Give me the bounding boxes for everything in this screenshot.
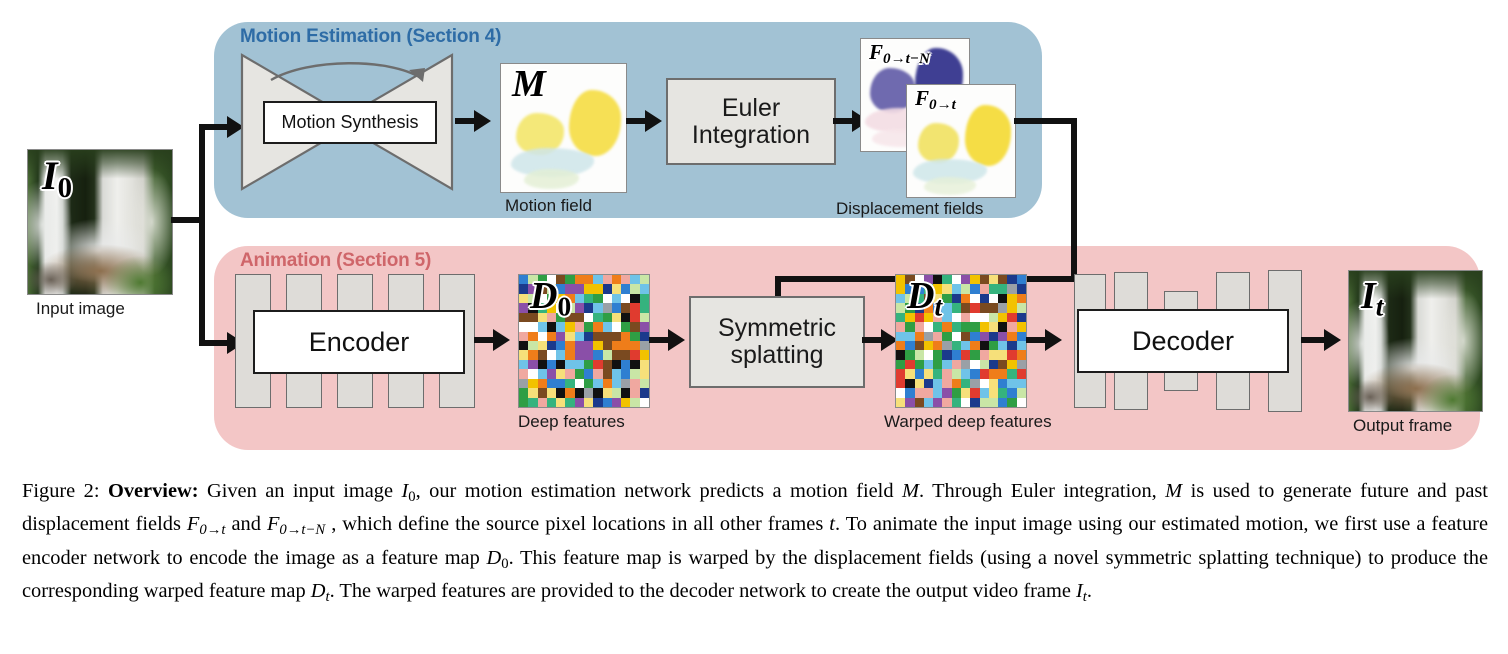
feature-cell — [998, 388, 1007, 397]
feature-cell — [1007, 284, 1016, 293]
feature-cell — [565, 350, 574, 359]
feature-cell — [584, 284, 593, 293]
feature-cell — [915, 398, 924, 407]
input-image-math-label: I0 — [42, 152, 72, 205]
feature-cell — [1007, 322, 1016, 331]
decoder-box[interactable]: Decoder — [1077, 309, 1289, 373]
motion-field-math-label: M — [512, 62, 546, 106]
feature-cell — [933, 350, 942, 359]
feature-cell — [915, 369, 924, 378]
feature-cell — [593, 294, 602, 303]
feature-cell — [952, 322, 961, 331]
feature-cell — [998, 341, 1007, 350]
feature-cell — [980, 284, 989, 293]
feature-cell — [593, 275, 602, 284]
feature-cell — [942, 398, 951, 407]
feature-cell — [952, 313, 961, 322]
feature-cell — [584, 388, 593, 397]
feature-cell — [556, 350, 565, 359]
warped-deep-features-caption: Warped deep features — [884, 412, 1052, 432]
caption-figure-number: Figure 2: — [22, 480, 100, 502]
feature-cell — [612, 350, 621, 359]
feature-cell — [915, 388, 924, 397]
feature-cell — [630, 350, 639, 359]
feature-cell — [915, 322, 924, 331]
feature-cell — [593, 313, 602, 322]
feature-cell — [980, 398, 989, 407]
feature-cell — [998, 294, 1007, 303]
feature-cell — [933, 369, 942, 378]
feature-cell — [630, 313, 639, 322]
feature-cell — [640, 275, 649, 284]
feature-cell — [593, 398, 602, 407]
feature-cell — [575, 369, 584, 378]
feature-cell — [952, 294, 961, 303]
feature-cell — [621, 350, 630, 359]
feature-cell — [556, 398, 565, 407]
feature-cell — [905, 341, 914, 350]
feature-cell — [989, 294, 998, 303]
feature-cell — [575, 332, 584, 341]
feature-cell — [998, 379, 1007, 388]
caption-body-1: Given an input image — [199, 480, 402, 502]
feature-cell — [933, 322, 942, 331]
caption-body-10: . — [1087, 580, 1092, 602]
euler-integration-box[interactable]: Euler Integration — [666, 78, 836, 165]
feature-cell — [612, 303, 621, 312]
feature-cell — [980, 369, 989, 378]
feature-cell — [621, 275, 630, 284]
caption-math-i0-sub: 0 — [408, 489, 415, 505]
feature-cell — [565, 388, 574, 397]
feature-cell — [896, 294, 905, 303]
feature-cell — [621, 369, 630, 378]
feature-cell — [640, 284, 649, 293]
feature-cell — [575, 294, 584, 303]
feature-cell — [1017, 350, 1026, 359]
feature-cell — [1017, 275, 1026, 284]
feature-cell — [556, 369, 565, 378]
caption-body-9: . The warped features are provided to th… — [330, 580, 1076, 602]
displacement-back-math-label: F0→t−N — [869, 40, 930, 68]
feature-cell — [519, 360, 528, 369]
feature-cell — [538, 388, 547, 397]
arrow-to-deep-features — [493, 329, 510, 351]
feature-cell — [998, 398, 1007, 407]
feature-cell — [556, 322, 565, 331]
feature-cell — [980, 303, 989, 312]
encoder-box[interactable]: Encoder — [253, 310, 465, 374]
feature-cell — [612, 388, 621, 397]
feature-cell — [989, 322, 998, 331]
motion-field-caption: Motion field — [505, 196, 592, 216]
input-image-symbol: I — [42, 153, 58, 198]
feature-cell — [942, 350, 951, 359]
feature-cell — [970, 322, 979, 331]
feature-cell — [896, 350, 905, 359]
feature-cell — [980, 388, 989, 397]
feature-cell — [519, 322, 528, 331]
feature-cell — [933, 332, 942, 341]
feature-cell — [528, 341, 537, 350]
feature-cell — [528, 398, 537, 407]
feature-cell — [538, 341, 547, 350]
decoder-label: Decoder — [1132, 326, 1234, 357]
feature-cell — [640, 379, 649, 388]
feature-cell — [952, 360, 961, 369]
feature-cell — [640, 313, 649, 322]
feature-cell — [528, 369, 537, 378]
feature-cell — [630, 303, 639, 312]
feature-cell — [933, 341, 942, 350]
feature-cell — [575, 303, 584, 312]
feature-cell — [584, 360, 593, 369]
feature-cell — [915, 341, 924, 350]
feature-cell — [547, 322, 556, 331]
feature-cell — [961, 398, 970, 407]
feature-cell — [556, 379, 565, 388]
motion-synthesis-box[interactable]: Motion Synthesis — [263, 101, 437, 144]
displacement-front-math-label: F0→t — [915, 86, 956, 114]
feature-cell — [1017, 360, 1026, 369]
wire-displacement-down — [1071, 118, 1077, 282]
feature-cell — [575, 379, 584, 388]
splatting-line-1: Symmetric — [718, 315, 836, 342]
feature-cell — [952, 341, 961, 350]
feature-cell — [998, 303, 1007, 312]
feature-cell — [952, 332, 961, 341]
feature-cell — [640, 332, 649, 341]
feature-cell — [621, 332, 630, 341]
output-frame-caption: Output frame — [1353, 416, 1452, 436]
feature-cell — [952, 379, 961, 388]
feature-cell — [593, 369, 602, 378]
output-frame-math-label: It — [1361, 274, 1383, 323]
feature-cell — [603, 332, 612, 341]
feature-cell — [905, 369, 914, 378]
feature-cell — [942, 313, 951, 322]
feature-cell — [933, 360, 942, 369]
feature-cell — [998, 360, 1007, 369]
feature-cell — [630, 379, 639, 388]
encoder-label: Encoder — [309, 327, 410, 358]
feature-cell — [640, 350, 649, 359]
feature-cell — [640, 398, 649, 407]
feature-cell — [575, 284, 584, 293]
feature-cell — [519, 350, 528, 359]
feature-cell — [538, 369, 547, 378]
feature-cell — [1007, 303, 1016, 312]
feature-cell — [961, 332, 970, 341]
feature-cell — [942, 303, 951, 312]
feature-cell — [1017, 284, 1026, 293]
feature-cell — [538, 322, 547, 331]
caption-body-5: and — [225, 513, 266, 535]
feature-cell — [989, 379, 998, 388]
feature-cell — [924, 322, 933, 331]
feature-cell — [942, 388, 951, 397]
feature-cell — [924, 350, 933, 359]
input-image-subscript: 0 — [58, 172, 72, 204]
feature-cell — [612, 379, 621, 388]
feature-cell — [989, 332, 998, 341]
feature-cell — [998, 313, 1007, 322]
feature-cell — [952, 350, 961, 359]
feature-cell — [630, 294, 639, 303]
feature-cell — [905, 379, 914, 388]
feature-cell — [640, 303, 649, 312]
feature-cell — [584, 369, 593, 378]
feature-cell — [989, 350, 998, 359]
feature-cell — [640, 369, 649, 378]
feature-cell — [584, 303, 593, 312]
caption-math-It: I — [1076, 580, 1083, 602]
feature-cell — [612, 369, 621, 378]
feature-cell — [933, 398, 942, 407]
feature-cell — [593, 360, 602, 369]
feature-cell — [1007, 313, 1016, 322]
feature-cell — [575, 398, 584, 407]
feature-cell — [621, 388, 630, 397]
feature-cell — [621, 398, 630, 407]
feature-cell — [621, 341, 630, 350]
arrow-to-decoder — [1045, 329, 1062, 351]
displacement-fields-caption: Displacement fields — [836, 199, 983, 219]
feature-cell — [575, 341, 584, 350]
feature-cell — [961, 294, 970, 303]
feature-cell — [584, 322, 593, 331]
figure-caption: Figure 2: Overview: Given an input image… — [22, 478, 1488, 611]
motion-field-symbol: M — [512, 63, 546, 105]
feature-cell — [538, 332, 547, 341]
motion-estimation-title: Motion Estimation (Section 4) — [240, 26, 501, 48]
feature-cell — [970, 303, 979, 312]
feature-cell — [896, 379, 905, 388]
warped-features-subscript: t — [934, 292, 942, 322]
feature-cell — [538, 379, 547, 388]
feature-cell — [905, 398, 914, 407]
output-frame-symbol: I — [1361, 275, 1376, 317]
arrow-to-output-frame — [1324, 329, 1341, 351]
feature-cell — [952, 275, 961, 284]
feature-cell — [603, 322, 612, 331]
feature-cell — [942, 322, 951, 331]
feature-cell — [961, 303, 970, 312]
feature-cell — [1017, 303, 1026, 312]
euler-line-2: Integration — [692, 122, 810, 149]
feature-cell — [547, 360, 556, 369]
feature-cell — [603, 369, 612, 378]
feature-cell — [896, 398, 905, 407]
feature-cell — [584, 313, 593, 322]
caption-math-M: M — [902, 480, 919, 502]
caption-math-F1: F — [187, 513, 199, 535]
feature-cell — [970, 360, 979, 369]
feature-cell — [630, 275, 639, 284]
feature-cell — [924, 388, 933, 397]
feature-cell — [603, 303, 612, 312]
feature-cell — [519, 379, 528, 388]
feature-cell — [603, 388, 612, 397]
feature-cell — [970, 379, 979, 388]
feature-cell — [603, 360, 612, 369]
feature-cell — [970, 398, 979, 407]
feature-cell — [538, 398, 547, 407]
displacement-back-subscript: 0→t−N — [883, 51, 930, 67]
input-trunk-vertical — [199, 124, 205, 346]
feature-cell — [1017, 341, 1026, 350]
feature-cell — [630, 322, 639, 331]
feature-cell — [630, 284, 639, 293]
feature-cell — [612, 313, 621, 322]
feature-cell — [961, 313, 970, 322]
caption-body-2: , our motion estimation network predicts… — [416, 480, 902, 502]
feature-cell — [924, 398, 933, 407]
displacement-front-symbol: F — [915, 86, 929, 110]
feature-cell — [565, 341, 574, 350]
feature-cell — [980, 275, 989, 284]
feature-cell — [547, 350, 556, 359]
caption-body-6: , which define the source pixel location… — [325, 513, 829, 535]
deep-features-math-label: D0 — [530, 274, 571, 323]
feature-cell — [630, 332, 639, 341]
feature-cell — [565, 360, 574, 369]
feature-cell — [1007, 379, 1016, 388]
feature-cell — [612, 341, 621, 350]
feature-cell — [612, 332, 621, 341]
feature-cell — [603, 294, 612, 303]
feature-cell — [519, 294, 528, 303]
motion-synthesis-label: Motion Synthesis — [281, 112, 418, 133]
branch-to-motion-estimation — [199, 124, 229, 130]
feature-cell — [989, 284, 998, 293]
feature-cell — [952, 398, 961, 407]
caption-math-D0-sub: 0 — [501, 556, 508, 572]
feature-cell — [630, 341, 639, 350]
feature-cell — [989, 275, 998, 284]
feature-cell — [593, 303, 602, 312]
caption-math-M2: M — [1165, 480, 1182, 502]
euler-line-1: Euler — [722, 95, 780, 122]
feature-cell — [593, 332, 602, 341]
feature-cell — [896, 388, 905, 397]
feature-cell — [942, 379, 951, 388]
feature-cell — [952, 369, 961, 378]
feature-cell — [584, 341, 593, 350]
input-image-caption: Input image — [36, 299, 125, 319]
feature-cell — [1007, 398, 1016, 407]
feature-cell — [970, 294, 979, 303]
feature-cell — [942, 341, 951, 350]
feature-cell — [640, 294, 649, 303]
feature-cell — [547, 341, 556, 350]
feature-cell — [961, 275, 970, 284]
feature-cell — [998, 275, 1007, 284]
feature-cell — [603, 398, 612, 407]
warped-deep-features-math-label: Dt — [907, 274, 942, 323]
feature-cell — [612, 275, 621, 284]
feature-cell — [519, 284, 528, 293]
symmetric-splatting-box[interactable]: Symmetric splatting — [689, 296, 865, 388]
feature-cell — [528, 332, 537, 341]
feature-cell — [1007, 294, 1016, 303]
feature-cell — [961, 388, 970, 397]
feature-cell — [519, 275, 528, 284]
warped-features-symbol: D — [907, 275, 934, 317]
feature-cell — [584, 350, 593, 359]
feature-cell — [905, 350, 914, 359]
feature-cell — [547, 379, 556, 388]
feature-cell — [603, 341, 612, 350]
feature-cell — [1017, 379, 1026, 388]
feature-cell — [998, 332, 1007, 341]
feature-cell — [556, 332, 565, 341]
feature-cell — [924, 332, 933, 341]
feature-cell — [630, 388, 639, 397]
feature-cell — [915, 360, 924, 369]
feature-cell — [1017, 369, 1026, 378]
arrow-to-euler-integration — [645, 110, 662, 132]
arrow-to-motion-field — [474, 110, 491, 132]
feature-cell — [575, 275, 584, 284]
feature-cell — [519, 303, 528, 312]
feature-cell — [621, 294, 630, 303]
feature-cell — [612, 294, 621, 303]
arrow-to-symmetric-splatting — [668, 329, 685, 351]
feature-cell — [1007, 341, 1016, 350]
feature-cell — [528, 360, 537, 369]
feature-cell — [630, 369, 639, 378]
feature-cell — [565, 332, 574, 341]
feature-cell — [961, 350, 970, 359]
feature-cell — [942, 284, 951, 293]
feature-cell — [896, 313, 905, 322]
feature-cell — [519, 369, 528, 378]
feature-cell — [970, 332, 979, 341]
feature-cell — [896, 341, 905, 350]
feature-cell — [942, 332, 951, 341]
feature-cell — [989, 360, 998, 369]
feature-cell — [980, 294, 989, 303]
feature-cell — [915, 332, 924, 341]
feature-cell — [565, 398, 574, 407]
feature-cell — [915, 350, 924, 359]
feature-cell — [961, 369, 970, 378]
feature-cell — [980, 341, 989, 350]
feature-cell — [896, 369, 905, 378]
feature-cell — [1007, 350, 1016, 359]
feature-cell — [905, 332, 914, 341]
deep-features-symbol: D — [530, 275, 557, 317]
feature-cell — [565, 322, 574, 331]
feature-cell — [952, 388, 961, 397]
caption-math-D0: D — [487, 547, 502, 569]
feature-cell — [1017, 332, 1026, 341]
feature-cell — [952, 303, 961, 312]
feature-cell — [612, 360, 621, 369]
feature-cell — [575, 322, 584, 331]
feature-cell — [896, 322, 905, 331]
feature-cell — [584, 379, 593, 388]
feature-cell — [970, 369, 979, 378]
feature-cell — [1017, 398, 1026, 407]
feature-cell — [519, 398, 528, 407]
feature-cell — [970, 275, 979, 284]
feature-cell — [1017, 388, 1026, 397]
feature-cell — [621, 313, 630, 322]
displacement-front-subscript: 0→t — [929, 97, 956, 113]
feature-cell — [584, 294, 593, 303]
